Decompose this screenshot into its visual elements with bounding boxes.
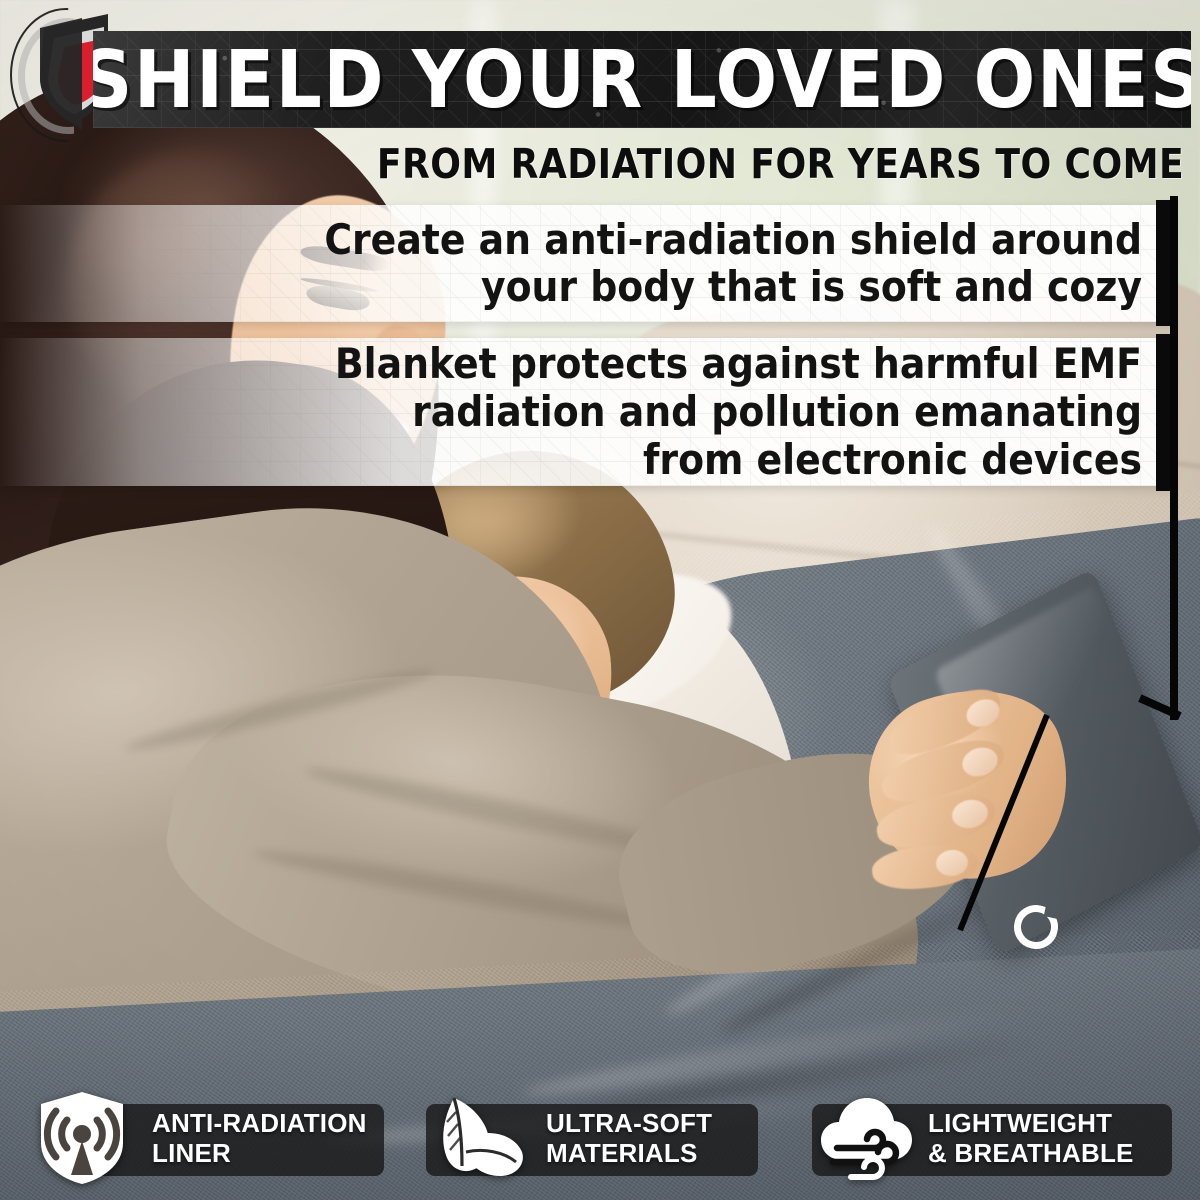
badge-label: LIGHTWEIGHT & BREATHABLE — [928, 1108, 1134, 1168]
subheadline-text: FROM RADIATION FOR YEARS TO COME — [406, 140, 1184, 188]
feather-icon — [428, 1086, 532, 1190]
badge-label: ULTRA-SOFT MATERIALS — [546, 1108, 712, 1168]
badge-ultra-soft: ULTRA-SOFT MATERIALS — [406, 1076, 798, 1200]
cloud-wind-icon — [814, 1086, 918, 1190]
benefit-panel-text: Blanket protects against harmful EMF rad… — [335, 340, 1142, 484]
badge-label: ANTI-RADIATION LINER — [152, 1108, 367, 1168]
pointer-line-icon — [1170, 196, 1178, 720]
headline-banner: SHIELD YOUR LOVED ONES — [93, 31, 1191, 128]
badge-anti-radiation: ANTI-RADIATION LINER — [0, 1076, 406, 1200]
badge-lightweight: LIGHTWEIGHT & BREATHABLE — [798, 1076, 1200, 1200]
benefit-panel-text: Create an anti-radiation shield around y… — [324, 216, 1142, 312]
headline-text: SHIELD YOUR LOVED ONES — [93, 31, 1191, 128]
shield-signal-icon — [30, 1086, 134, 1190]
benefit-panel-shield: Create an anti-radiation shield around y… — [0, 205, 1172, 322]
benefit-panel-emf: Blanket protects against harmful EMF rad… — [0, 338, 1172, 486]
feature-badge-row: ANTI-RADIATION LINER ULTRA-SOFT MATERIAL… — [0, 1076, 1200, 1200]
product-infographic: SHIELD YOUR LOVED ONES FROM RADIATION FO… — [0, 0, 1200, 1200]
